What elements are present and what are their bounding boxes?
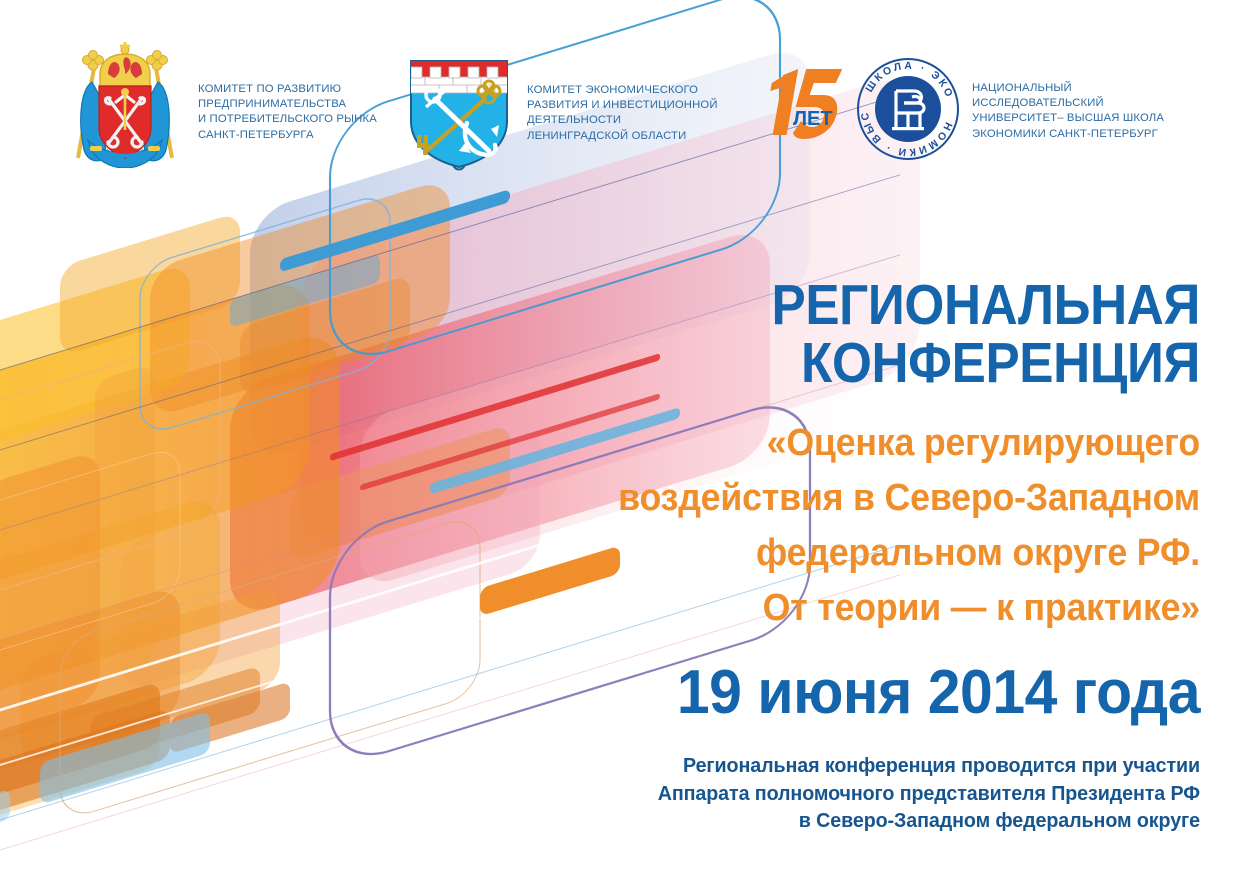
subtitle-line-2: воздействия в Северо-Западном (523, 471, 1200, 526)
caption-line: ПРЕДПРИНИМАТЕЛЬСТВА (198, 97, 377, 112)
footer-line-2: Аппарата полномочного представителя През… (509, 780, 1200, 808)
subtitle-line-4: От теории — к практике» (523, 581, 1200, 636)
subtitle-line-3: федеральном округе РФ. (523, 526, 1200, 581)
logo-block-hse-spb: ЛЕТ ШКОЛА · ЭКО НОМИКИ · ВЫСШАЯ · (766, 55, 1164, 166)
subtitle-line-1: «Оценка регулирующего (523, 416, 1200, 471)
participation-note: Региональная конференция проводится при … (509, 752, 1200, 835)
sponsor-logo-bar: КОМИТЕТ ПО РАЗВИТИЮ ПРЕДПРИНИМАТЕЛЬСТВА … (0, 0, 1240, 185)
page-title-line-2: КОНФЕРЕНЦИЯ (552, 334, 1200, 392)
logo-block-lenoblast-committee: КОМИТЕТ ЭКОНОМИЧЕСКОГО РАЗВИТИЯ И ИНВЕСТ… (405, 55, 718, 180)
caption-line: САНКТ-ПЕТЕРБУРГА (198, 128, 377, 143)
caption-line: ИССЛЕДОВАТЕЛЬСКИЙ (972, 96, 1164, 111)
spb-committee-caption: КОМИТЕТ ПО РАЗВИТИЮ ПРЕДПРИНИМАТЕЛЬСТВА … (198, 82, 377, 143)
conference-poster: КОМИТЕТ ПО РАЗВИТИЮ ПРЕДПРИНИМАТЕЛЬСТВА … (0, 0, 1240, 893)
decor-blue-tiles (0, 254, 380, 841)
footer-line-1: Региональная конференция проводится при … (509, 752, 1200, 780)
spb-coat-of-arms-icon (66, 40, 184, 173)
logo-block-spb-committee: КОМИТЕТ ПО РАЗВИТИЮ ПРЕДПРИНИМАТЕЛЬСТВА … (66, 40, 377, 173)
event-date: 19 июня 2014 года (516, 660, 1200, 726)
hse-caption: НАЦИОНАЛЬНЫЙ ИССЛЕДОВАТЕЛЬСКИЙ УНИВЕРСИТ… (972, 81, 1164, 142)
caption-line: КОМИТЕТ ПО РАЗВИТИЮ (198, 82, 377, 97)
poster-content: РЕГИОНАЛЬНАЯ КОНФЕРЕНЦИЯ «Оценка регулир… (480, 276, 1200, 835)
footer-line-3: в Северо-Западном федеральном округе (509, 807, 1200, 835)
anniversary-word: ЛЕТ (793, 108, 833, 130)
page-title-line-1: РЕГИОНАЛЬНАЯ (552, 276, 1200, 334)
hse-seal-icon: ШКОЛА · ЭКО НОМИКИ · ВЫСШАЯ · (856, 57, 960, 166)
caption-line: ДЕЯТЕЛЬНОСТИ (527, 113, 718, 128)
decor-accent-bars (0, 321, 290, 852)
anniversary-15-years-icon: ЛЕТ (766, 59, 848, 152)
conference-subtitle: «Оценка регулирующего воздействия в Севе… (523, 416, 1200, 636)
caption-line: ЭКОНОМИКИ САНКТ-ПЕТЕРБУРГ (972, 127, 1164, 142)
caption-line: КОМИТЕТ ЭКОНОМИЧЕСКОГО (527, 83, 718, 98)
caption-line: НАЦИОНАЛЬНЫЙ (972, 81, 1164, 96)
decor-panel-group-orange (0, 129, 510, 876)
caption-line: РАЗВИТИЯ И ИНВЕСТИЦИОННОЙ (527, 98, 718, 113)
decor-outline-shapes (0, 163, 480, 893)
caption-line: И ПОТРЕБИТЕЛЬСКОГО РЫНКА (198, 112, 377, 127)
lenoblast-committee-caption: КОМИТЕТ ЭКОНОМИЧЕСКОГО РАЗВИТИЯ И ИНВЕСТ… (527, 83, 718, 144)
caption-line: УНИВЕРСИТЕТ– ВЫСШАЯ ШКОЛА (972, 111, 1164, 126)
leningrad-oblast-coat-of-arms-icon (405, 55, 513, 180)
caption-line: ЛЕНИНГРАДСКОЙ ОБЛАСТИ (527, 129, 718, 144)
